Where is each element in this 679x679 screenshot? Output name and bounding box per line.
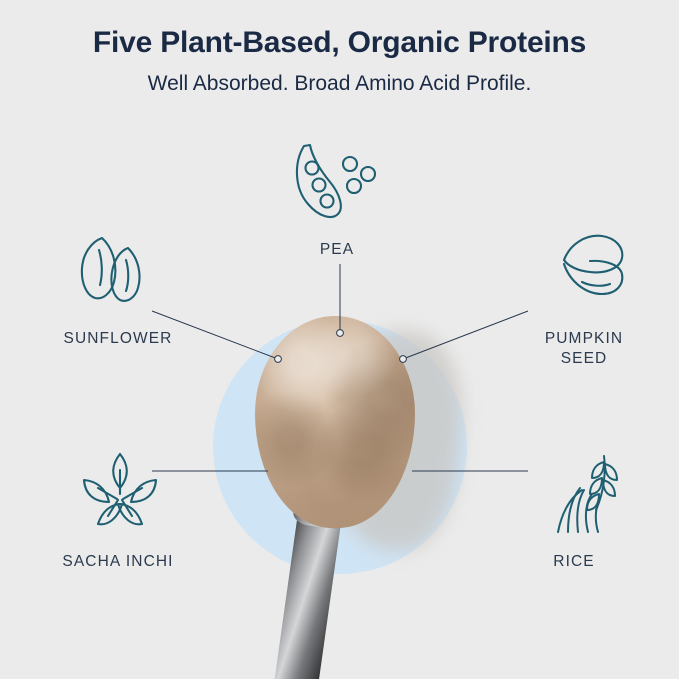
pumpkin-seed-icon: [552, 230, 636, 309]
infographic-canvas: Five Plant-Based, Organic Proteins Well …: [0, 0, 679, 679]
rice-stalk-icon: [548, 450, 632, 541]
connector-pumpkin: [403, 311, 528, 359]
connector-dot-pea: [337, 330, 344, 337]
connector-dot-pumpkin: [400, 356, 407, 363]
connector-dot-sunflower: [275, 356, 282, 363]
ingredient-label-sacha-inchi: SACHA INCHI: [28, 552, 208, 572]
ingredient-label-pea: PEA: [282, 240, 392, 260]
ingredient-label-pumpkin-seed: PUMPKIN SEED: [514, 329, 654, 369]
ingredient-label-rice: RICE: [504, 552, 644, 572]
sacha-inchi-flower-icon: [78, 450, 162, 539]
ingredient-label-sunflower: SUNFLOWER: [28, 329, 208, 349]
pea-pod-icon: [288, 140, 392, 237]
sunflower-seeds-icon: [68, 232, 160, 311]
